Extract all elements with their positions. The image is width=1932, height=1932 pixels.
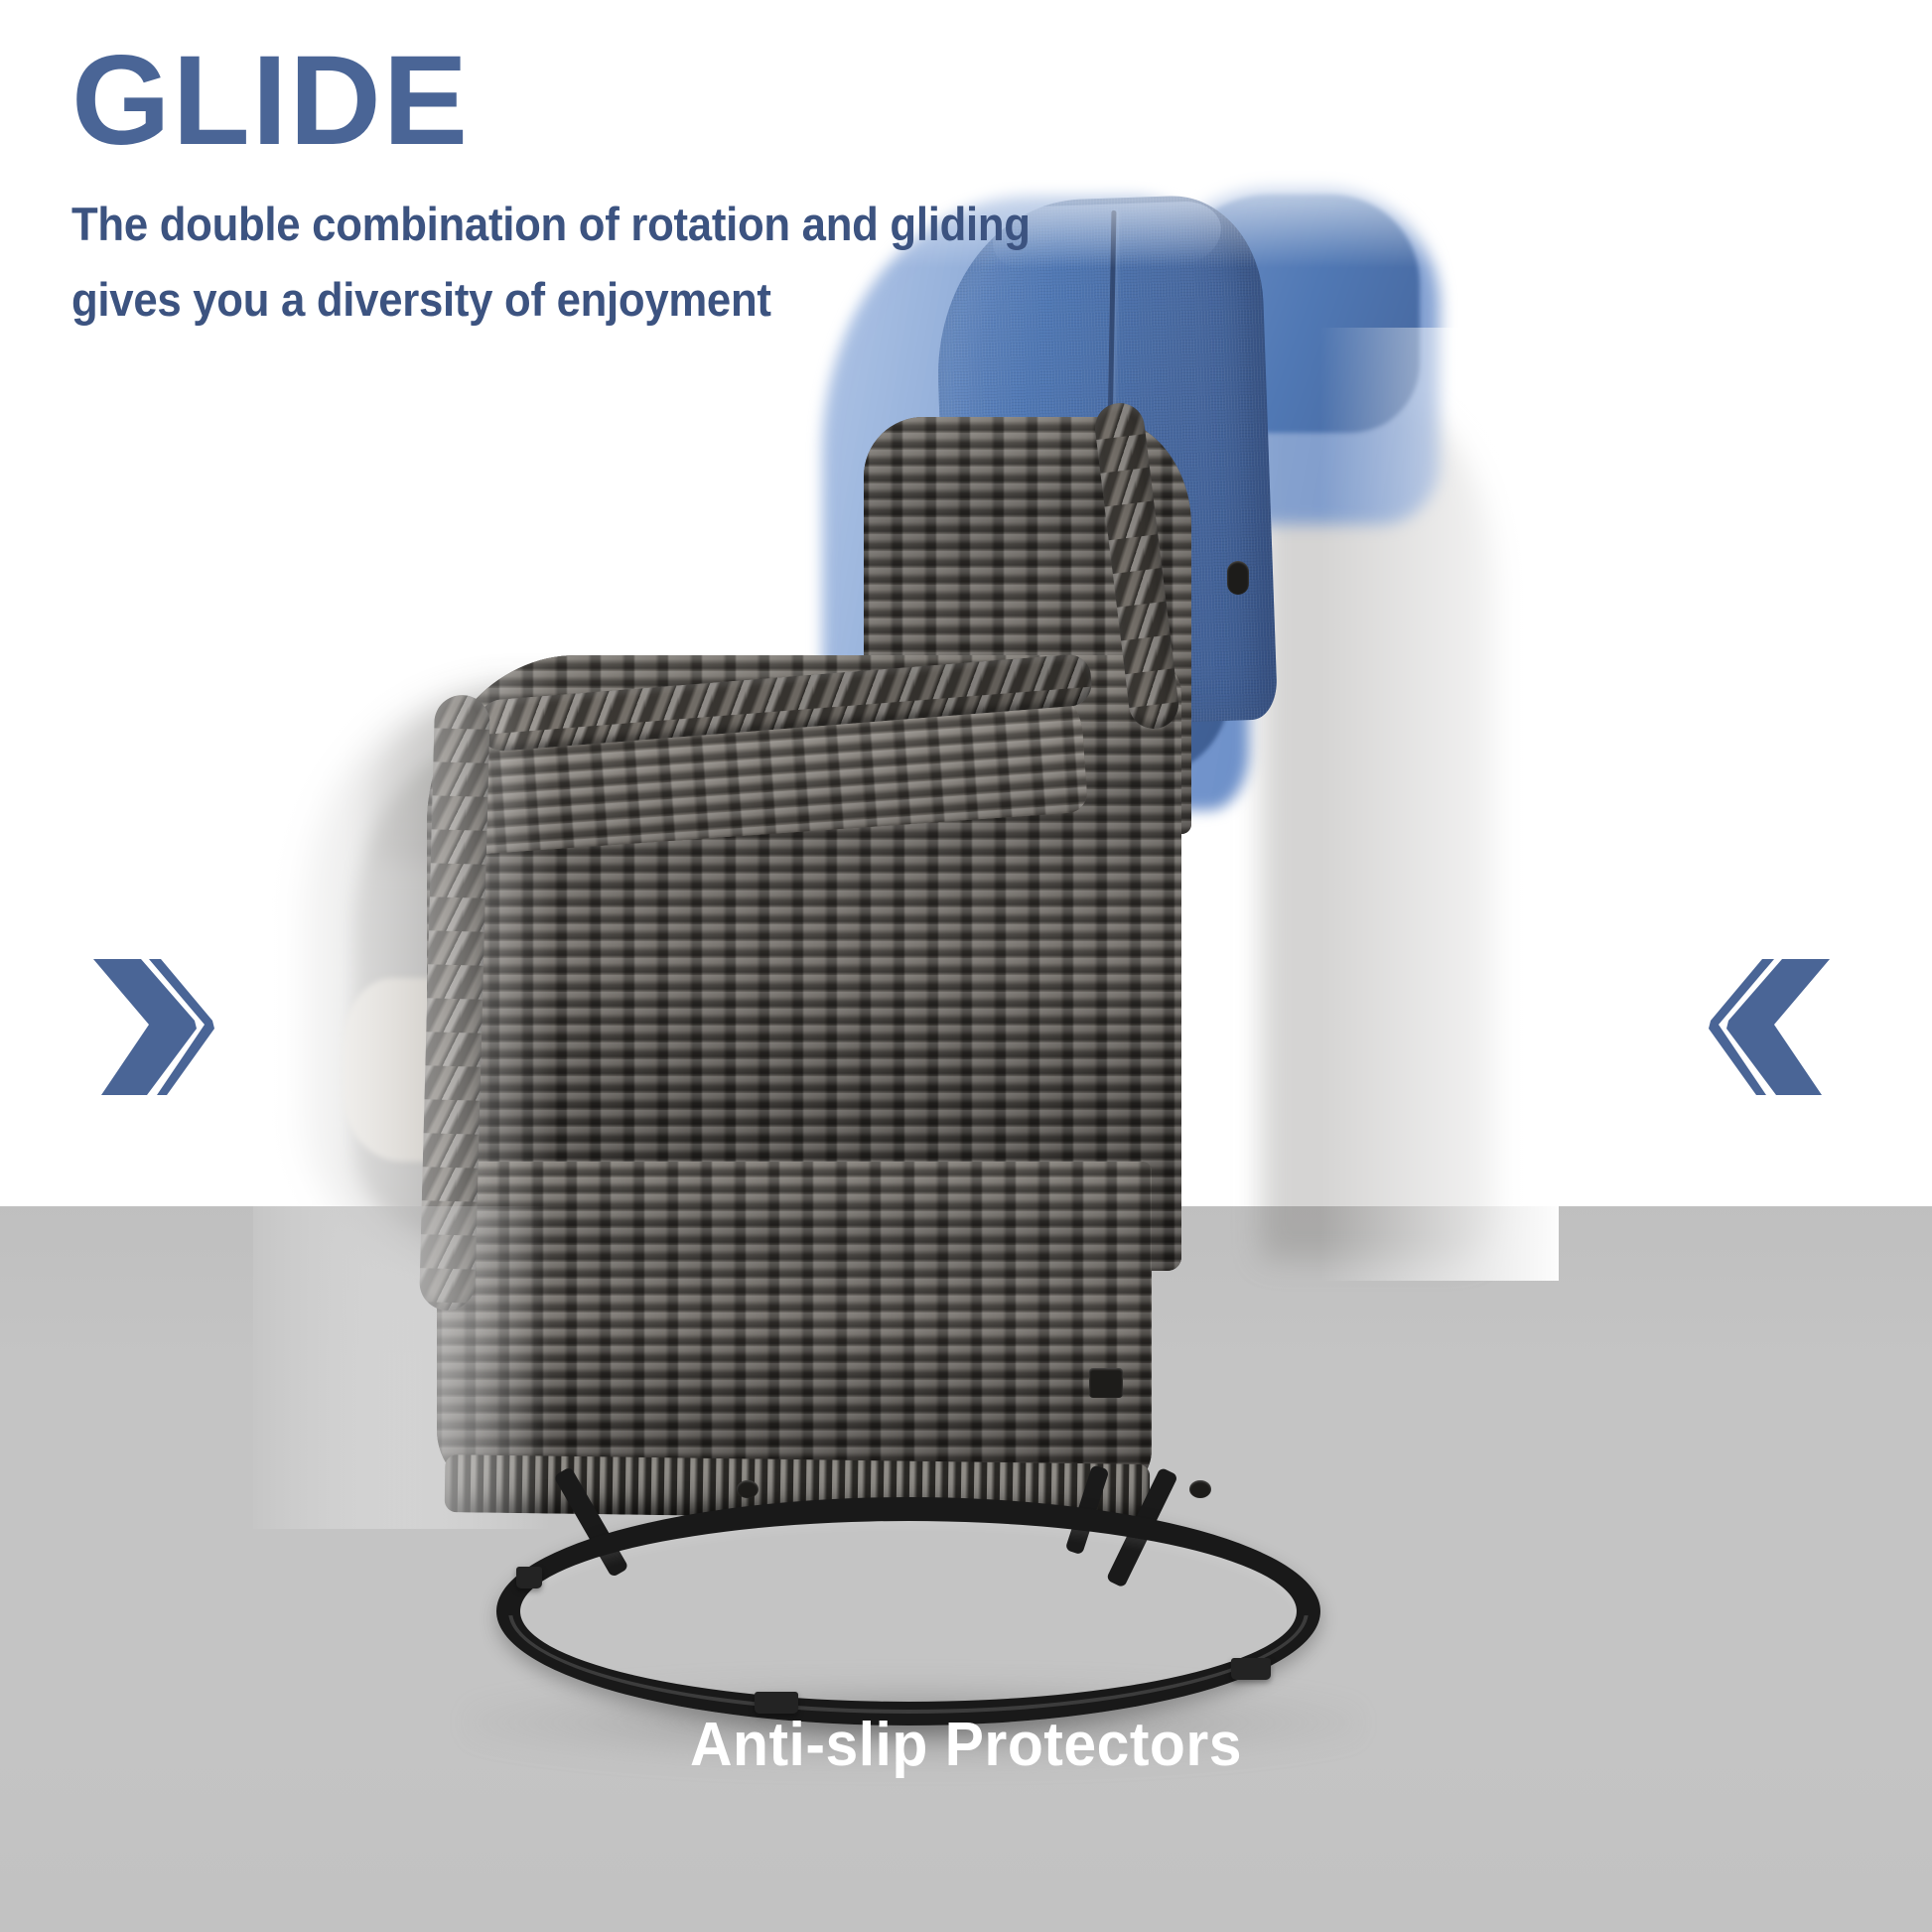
chair-lower-skirt — [437, 1162, 1152, 1489]
anti-slip-protector-foot — [1231, 1658, 1271, 1680]
frame-screw — [737, 1480, 759, 1498]
chevrons-left-icon — [1703, 955, 1832, 1104]
motion-blur-ghost-right — [1261, 397, 1499, 1261]
subtitle-line-1: The double combination of rotation and g… — [71, 187, 995, 262]
hardware-bracket — [1227, 561, 1249, 595]
wicker-weave-texture — [437, 1162, 1152, 1489]
headline-block: GLIDE The double combination of rotation… — [71, 38, 1064, 338]
feature-caption: Anti-slip Protectors — [49, 1710, 1884, 1780]
page-title: GLIDE — [71, 38, 1064, 165]
hardware-bracket — [1089, 1368, 1123, 1398]
subtitle-line-2: gives you a diversity of enjoyment — [71, 262, 995, 338]
frame-screw — [1189, 1480, 1211, 1498]
chevrons-right-icon — [91, 955, 220, 1104]
anti-slip-protector-foot — [516, 1567, 542, 1588]
product-feature-poster: GLIDE The double combination of rotation… — [0, 0, 1932, 1932]
